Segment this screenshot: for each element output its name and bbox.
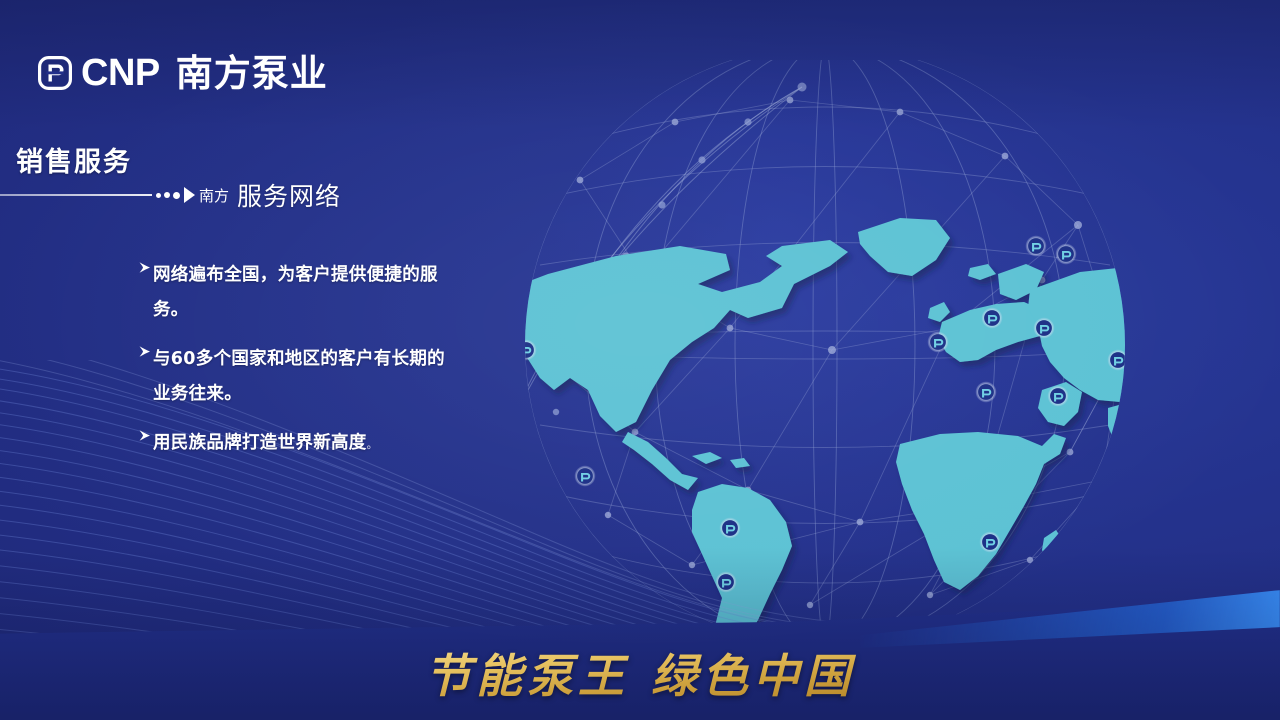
subtitle-row: 南方 服务网络 [0, 176, 470, 214]
subtitle-topic: 服务网络 [237, 177, 341, 213]
arrow-divider-icon [156, 192, 180, 199]
cnp-monogram-icon [38, 56, 72, 90]
triangle-arrow-icon [184, 187, 195, 203]
list-item-text: 与60多个国家和地区的客户有长期的业务往来。 [153, 342, 458, 412]
list-item: 网络遍布全国，为客户提供便捷的服务。 [138, 258, 458, 328]
logo-chinese-text: 南方泵业 [176, 55, 328, 92]
subtitle-brand: 南方 [199, 185, 229, 206]
slogan-part-1: 节能泵王 [425, 649, 629, 703]
brand-slogan: 节能泵王绿色中国 [0, 640, 1280, 706]
presentation-slide: CNP 南方泵业 销售服务 南方 服务网络 网络遍布全国，为客户提供便捷的服务。 [0, 0, 1280, 720]
list-item: 用民族品牌打造世界新高度。 [138, 426, 458, 461]
bullet-list: 网络遍布全国，为客户提供便捷的服务。 与60多个国家和地区的客户有长期的业务往来… [138, 258, 458, 475]
arrow-bullet-icon [138, 429, 153, 442]
list-item-text: 网络遍布全国，为客户提供便捷的服务。 [153, 258, 458, 328]
page-title: 销售服务 [16, 140, 132, 179]
arrow-bullet-icon [138, 261, 153, 274]
list-item-tail: 。 [367, 438, 378, 451]
brand-logo[interactable]: CNP 南方泵业 [38, 54, 328, 92]
list-item-text: 用民族品牌打造世界新高度。 [153, 426, 378, 461]
list-item: 与60多个国家和地区的客户有长期的业务往来。 [138, 342, 458, 412]
list-item-main: 用民族品牌打造世界新高度 [153, 433, 367, 453]
arrow-bullet-icon [138, 345, 153, 358]
logo-latin-text: CNP [81, 54, 160, 92]
divider-rule [0, 194, 152, 196]
slogan-part-2: 绿色中国 [651, 649, 855, 703]
